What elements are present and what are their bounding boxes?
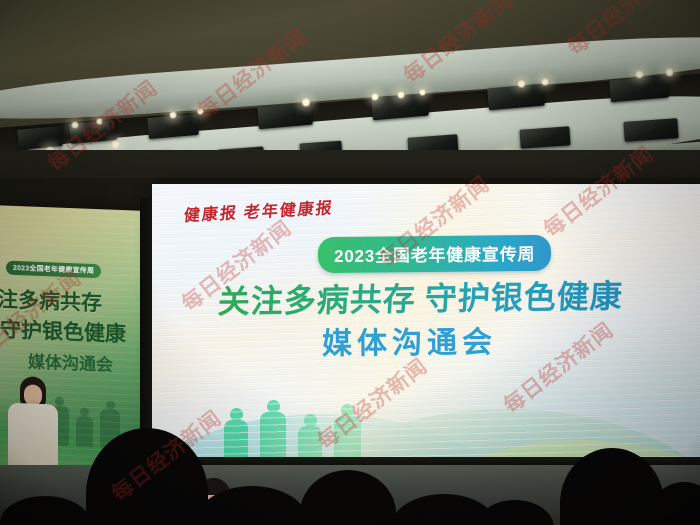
spotlight bbox=[664, 68, 675, 77]
main-led-screen: 健康报 老年健康报 2023全国老年健康宣传周 关注多病共存 守护银色健康 媒体… bbox=[152, 184, 700, 484]
spotlight bbox=[300, 98, 312, 107]
spotlight bbox=[634, 70, 645, 79]
event-pill-label: 2023全国老年健康宣传周 bbox=[318, 235, 552, 273]
spotlight bbox=[418, 89, 427, 96]
ceiling-light-fixture bbox=[623, 118, 678, 142]
side-screen-presenter bbox=[2, 375, 62, 472]
spotlight bbox=[168, 111, 178, 119]
event-headline: 关注多病共存 守护银色健康 bbox=[217, 271, 625, 323]
ceiling-light-fixture bbox=[519, 126, 570, 148]
spotlight bbox=[370, 93, 380, 101]
spotlight bbox=[95, 118, 104, 125]
event-subtitle: 媒体沟通会 bbox=[322, 317, 497, 363]
spotlight bbox=[196, 108, 205, 115]
spotlight bbox=[110, 140, 121, 149]
spotlight bbox=[540, 78, 550, 86]
spotlight bbox=[70, 121, 80, 129]
photograph-scene: 2023全国老年健康宣传周 关注多病共存 守护银色健康 媒体沟通会 bbox=[0, 0, 700, 525]
spotlight bbox=[516, 80, 527, 88]
side-screen-subtitle: 媒体沟通会 bbox=[28, 347, 113, 375]
ceiling-light-fixture bbox=[17, 126, 63, 150]
spotlight bbox=[396, 91, 406, 99]
